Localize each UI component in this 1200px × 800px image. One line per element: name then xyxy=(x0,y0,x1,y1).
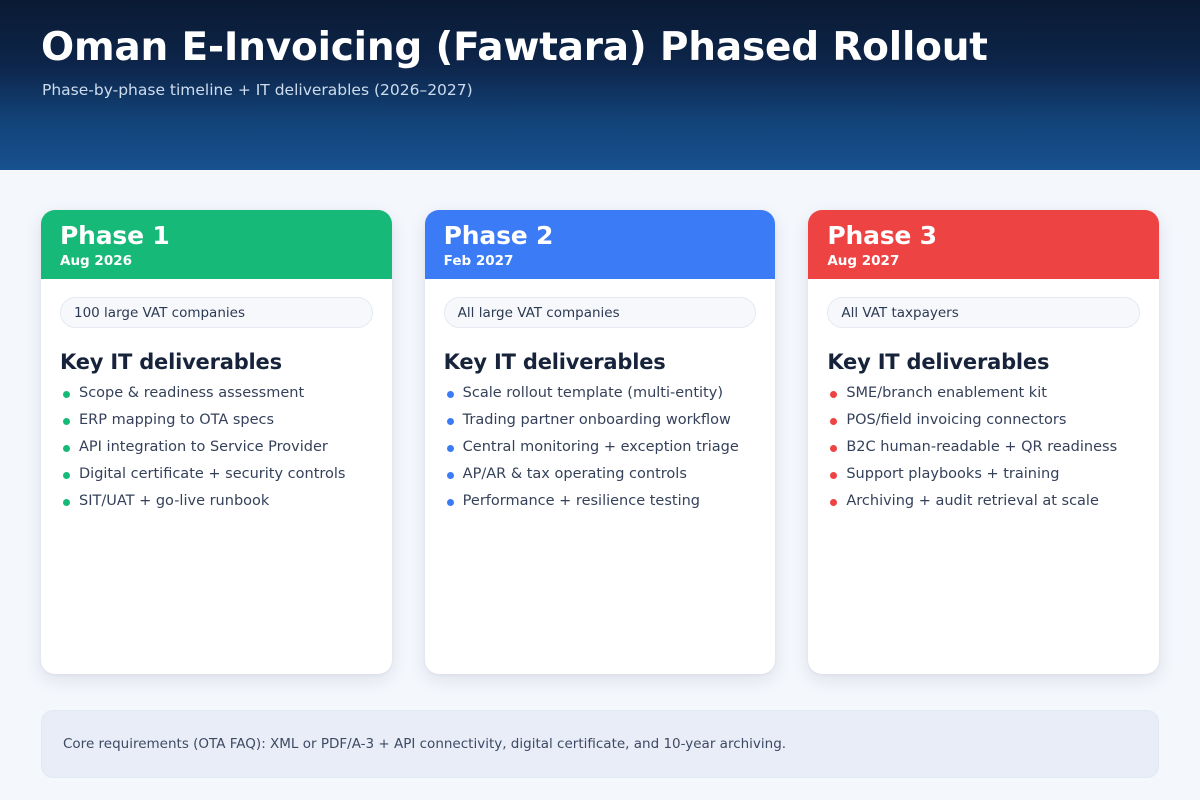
phase-card-3-deliverables-list: SME/branch enablement kit POS/field invo… xyxy=(827,384,1140,511)
list-item: AP/AR & tax operating controls xyxy=(444,465,757,484)
list-item: Central monitoring + exception triage xyxy=(444,438,757,457)
phase-card-3-body: All VAT taxpayers Key IT deliverables SM… xyxy=(808,279,1159,674)
list-item-label: ERP mapping to OTA specs xyxy=(79,412,274,428)
phase-card-3-scope-badge: All VAT taxpayers xyxy=(827,297,1140,328)
phase-card-1-date: Aug 2026 xyxy=(60,252,392,270)
list-item-label: Performance + resilience testing xyxy=(463,493,700,509)
bullet-dot-icon xyxy=(447,418,454,425)
list-item: ERP mapping to OTA specs xyxy=(60,411,373,430)
bullet-dot-icon xyxy=(447,499,454,506)
list-item: Archiving + audit retrieval at scale xyxy=(827,492,1140,511)
phase-card-1-header: Phase 1 Aug 2026 xyxy=(41,210,392,279)
list-item-label: Scale rollout template (multi-entity) xyxy=(463,385,723,401)
bullet-dot-icon xyxy=(830,391,837,398)
phase-card-2-name: Phase 2 xyxy=(444,221,776,251)
bullet-dot-icon xyxy=(447,445,454,452)
phase-card-2-date: Feb 2027 xyxy=(444,252,776,270)
list-item-label: Digital certificate + security controls xyxy=(79,466,346,482)
phase-card-1-body: 100 large VAT companies Key IT deliverab… xyxy=(41,279,392,674)
list-item: Scope & readiness assessment xyxy=(60,384,373,403)
phase-card-1-deliverables-list: Scope & readiness assessment ERP mapping… xyxy=(60,384,373,511)
bullet-dot-icon xyxy=(447,472,454,479)
list-item-label: B2C human-readable + QR readiness xyxy=(846,439,1117,455)
list-item-label: API integration to Service Provider xyxy=(79,439,328,455)
list-item: SME/branch enablement kit xyxy=(827,384,1140,403)
list-item-label: POS/field invoicing connectors xyxy=(846,412,1066,428)
list-item-label: SME/branch enablement kit xyxy=(846,385,1047,401)
list-item-label: Scope & readiness assessment xyxy=(79,385,304,401)
core-requirements-note-text: Core requirements (OTA FAQ): XML or PDF/… xyxy=(63,736,786,752)
phase-card-2: Phase 2 Feb 2027 All large VAT companies… xyxy=(425,210,776,674)
bullet-dot-icon xyxy=(63,418,70,425)
phase-card-2-deliverables-heading: Key IT deliverables xyxy=(444,349,757,375)
bullet-dot-icon xyxy=(830,499,837,506)
bullet-dot-icon xyxy=(63,472,70,479)
bullet-dot-icon xyxy=(447,391,454,398)
list-item: B2C human-readable + QR readiness xyxy=(827,438,1140,457)
list-item: Trading partner onboarding workflow xyxy=(444,411,757,430)
phase-cards-row: Phase 1 Aug 2026 100 large VAT companies… xyxy=(41,210,1159,674)
list-item: Performance + resilience testing xyxy=(444,492,757,511)
phase-card-2-header: Phase 2 Feb 2027 xyxy=(425,210,776,279)
page-subtitle: Phase-by-phase timeline + IT deliverable… xyxy=(42,80,1160,100)
list-item-label: Archiving + audit retrieval at scale xyxy=(846,493,1099,509)
phase-card-2-body: All large VAT companies Key IT deliverab… xyxy=(425,279,776,674)
phase-card-3-date: Aug 2027 xyxy=(827,252,1159,270)
list-item-label: Central monitoring + exception triage xyxy=(463,439,739,455)
core-requirements-note: Core requirements (OTA FAQ): XML or PDF/… xyxy=(41,710,1159,778)
page-header: Oman E-Invoicing (Fawtara) Phased Rollou… xyxy=(0,0,1200,170)
phase-card-1-name: Phase 1 xyxy=(60,221,392,251)
bullet-dot-icon xyxy=(63,445,70,452)
phase-card-3-header: Phase 3 Aug 2027 xyxy=(808,210,1159,279)
list-item: Scale rollout template (multi-entity) xyxy=(444,384,757,403)
phase-card-1-deliverables-heading: Key IT deliverables xyxy=(60,349,373,375)
list-item-label: AP/AR & tax operating controls xyxy=(463,466,687,482)
bullet-dot-icon xyxy=(63,499,70,506)
list-item: Support playbooks + training xyxy=(827,465,1140,484)
bullet-dot-icon xyxy=(830,472,837,479)
page-title: Oman E-Invoicing (Fawtara) Phased Rollou… xyxy=(41,22,1160,74)
bullet-dot-icon xyxy=(830,445,837,452)
list-item: SIT/UAT + go-live runbook xyxy=(60,492,373,511)
phase-card-3-deliverables-heading: Key IT deliverables xyxy=(827,349,1140,375)
bullet-dot-icon xyxy=(63,391,70,398)
phase-card-3: Phase 3 Aug 2027 All VAT taxpayers Key I… xyxy=(808,210,1159,674)
list-item: Digital certificate + security controls xyxy=(60,465,373,484)
phase-card-2-deliverables-list: Scale rollout template (multi-entity) Tr… xyxy=(444,384,757,511)
phase-card-1-scope-badge: 100 large VAT companies xyxy=(60,297,373,328)
phase-card-3-name: Phase 3 xyxy=(827,221,1159,251)
list-item: POS/field invoicing connectors xyxy=(827,411,1140,430)
infographic-page: { "header": { "title": "Oman E-Invoicing… xyxy=(0,0,1200,800)
phase-card-2-scope-badge: All large VAT companies xyxy=(444,297,757,328)
list-item: API integration to Service Provider xyxy=(60,438,373,457)
bullet-dot-icon xyxy=(830,418,837,425)
list-item-label: Trading partner onboarding workflow xyxy=(463,412,731,428)
list-item-label: Support playbooks + training xyxy=(846,466,1059,482)
phase-card-1: Phase 1 Aug 2026 100 large VAT companies… xyxy=(41,210,392,674)
list-item-label: SIT/UAT + go-live runbook xyxy=(79,493,269,509)
